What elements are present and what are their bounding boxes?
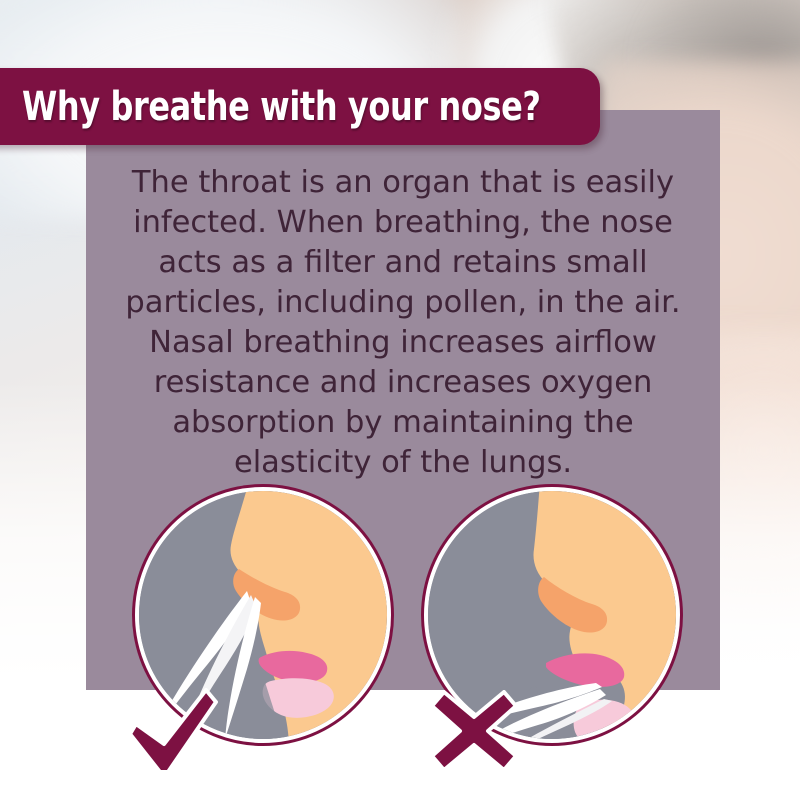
body-paragraph: The throat is an organ that is easily in… bbox=[104, 163, 702, 483]
cross-icon bbox=[428, 688, 520, 774]
check-icon bbox=[126, 688, 218, 774]
title-banner: Why breathe with your nose? bbox=[0, 68, 600, 145]
infographic-card: Why breathe with your nose? The throat i… bbox=[0, 0, 800, 800]
page-title: Why breathe with your nose? bbox=[22, 87, 541, 127]
